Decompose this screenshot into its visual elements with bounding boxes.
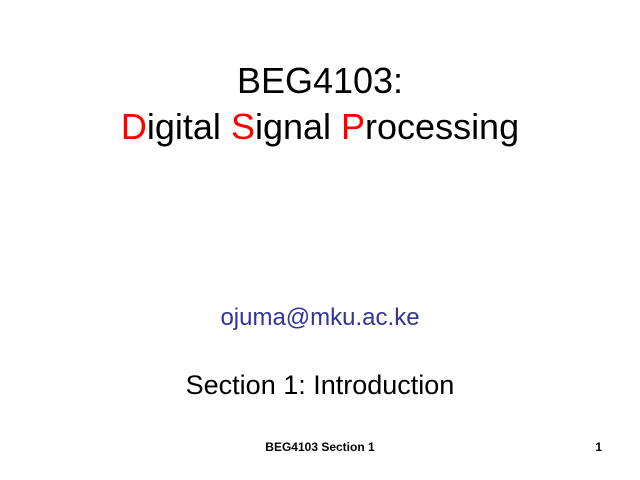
title-word-processing-rest: rocessing <box>365 106 519 147</box>
title-line-course-code: BEG4103: <box>0 58 640 104</box>
section-subtitle-container: Section 1: Introduction <box>0 370 640 401</box>
title-word-signal-rest: ignal <box>255 106 341 147</box>
footer-label: BEG4103 Section 1 <box>0 440 640 454</box>
slide-canvas: BEG4103: Digital Signal Processing ojuma… <box>0 0 640 480</box>
section-subtitle-text: Section 1: Introduction <box>186 370 455 400</box>
email-link[interactable]: ojuma@mku.ac.ke <box>220 304 419 331</box>
title-line-course-name: Digital Signal Processing <box>0 104 640 150</box>
footer-page-number: 1 <box>595 440 602 454</box>
title-word-digital-rest: igital <box>147 106 231 147</box>
contact-email-container: ojuma@mku.ac.ke <box>0 304 640 332</box>
slide-title: BEG4103: Digital Signal Processing <box>0 58 640 150</box>
title-accent-letter-p: P <box>341 106 365 147</box>
slide-footer: BEG4103 Section 1 1 <box>0 440 640 458</box>
title-accent-letter-s: S <box>231 106 255 147</box>
title-accent-letter-d: D <box>121 106 147 147</box>
